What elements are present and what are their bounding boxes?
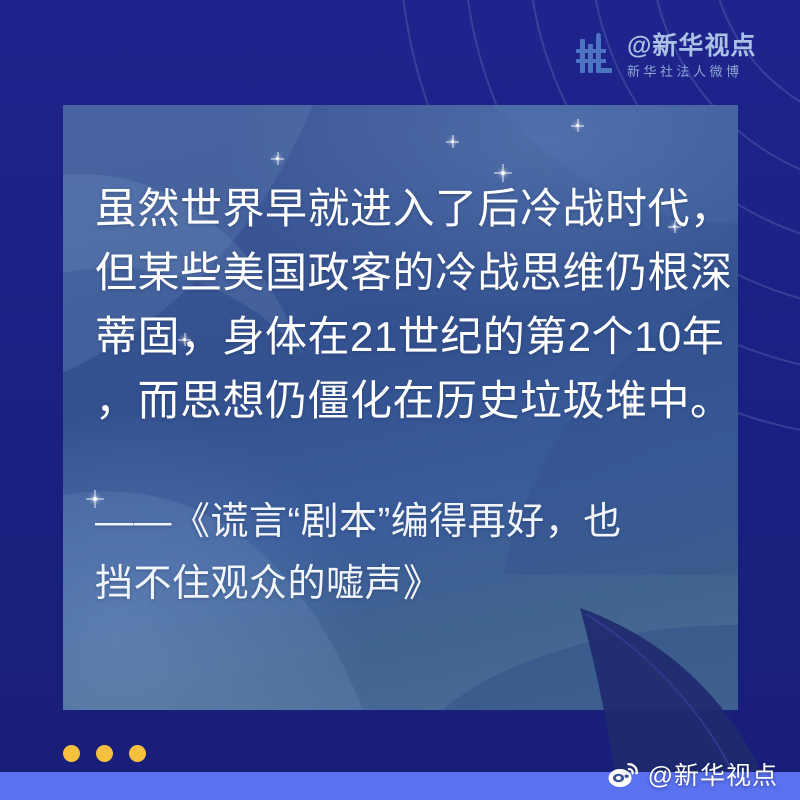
indicator-dot [129,745,146,762]
quote-line: 但某些美国政客的冷战思维仍根深 [95,241,715,305]
quote-line: ，而思想仍僵化在历史垃圾堆中。 [95,369,715,433]
logo-text-block: @新华视点 新华社法人微博 [627,34,756,78]
indicator-dot [96,745,113,762]
attribution-block: ——《谎言“剧本”编得再好，也 挡不住观众的嘘声》 [95,491,715,615]
attribution-line: ——《谎言“剧本”编得再好，也 [95,491,715,553]
quote-card: 虽然世界早就进入了后冷战时代， 但某些美国政客的冷战思维仍根深 蒂固，身体在21… [63,105,738,710]
xinhua-tower-logo-icon [572,33,618,79]
sparkle-icon [276,157,279,160]
header-logo: @新华视点 新华社法人微博 [572,33,756,79]
logo-account-handle: @新华视点 [627,34,756,59]
weibo-watermark: @新华视点 [608,756,778,792]
quote-line: 虽然世界早就进入了后冷战时代， [95,177,715,241]
card-text-block: 虽然世界早就进入了后冷战时代， 但某些美国政客的冷战思维仍根深 蒂固，身体在21… [95,177,715,615]
poster-canvas: @新华视点 新华社法人微博 虽然 [0,0,800,800]
quote-line: 蒂固，身体在21世纪的第2个10年 [95,305,715,369]
weibo-icon [608,761,639,788]
attribution-line: 挡不住观众的嘘声》 [95,553,715,615]
logo-account-subtitle: 新华社法人微博 [627,65,756,78]
sparkle-icon [576,124,579,127]
sparkle-icon [501,171,505,175]
page-indicator-dots [63,745,146,762]
sparkle-icon [451,140,454,143]
indicator-dot [63,745,80,762]
watermark-label: @新华视点 [648,756,778,792]
